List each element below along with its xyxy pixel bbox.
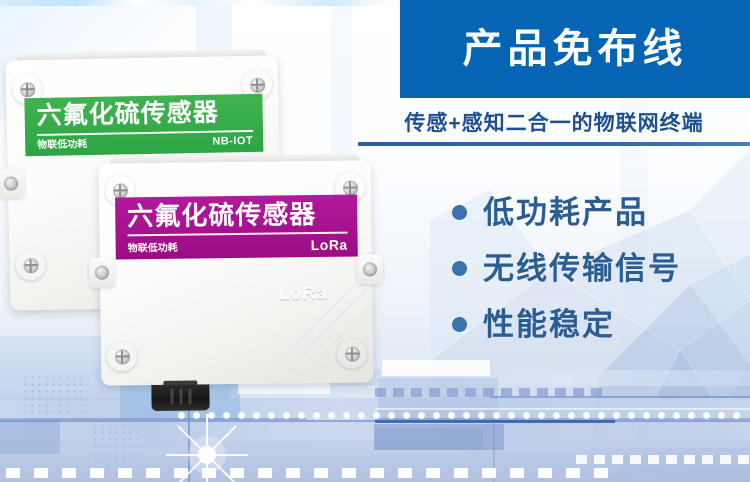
bullet-dot-icon — [452, 261, 467, 276]
feature-label: 无线传输信号 — [483, 253, 681, 284]
background-block — [0, 420, 60, 454]
page-title: 产品免布线 — [400, 0, 750, 98]
cable-gland-icon — [151, 384, 209, 411]
background-dot-row — [178, 412, 740, 419]
feature-item: 性能稳定 — [452, 296, 750, 352]
plate-subtitle-left: 物联低功耗 — [128, 244, 178, 255]
feature-item: 无线传输信号 — [452, 240, 750, 296]
enclosure-emboss-text: LoRa — [278, 283, 327, 305]
mounting-tab — [89, 257, 115, 287]
plate-title: 六氟化硫传感器 — [127, 201, 347, 230]
background-dash-row — [576, 455, 749, 464]
plate-subtitle-right: NB-IOT — [212, 136, 253, 148]
mounting-tab — [357, 254, 383, 284]
background-dash-row — [375, 388, 602, 397]
corner-screw-icon — [107, 341, 137, 371]
plate-subtitle-left: 物联低功耗 — [37, 140, 87, 151]
plate-subtitle-right: LoRa — [311, 238, 348, 252]
background-block — [382, 360, 490, 376]
feature-list: 低功耗产品 无线传输信号 性能稳定 — [452, 184, 750, 352]
background-white-dash-row — [6, 468, 608, 478]
background-rule — [375, 408, 750, 410]
bullet-dot-icon — [452, 317, 467, 332]
feature-item: 低功耗产品 — [452, 184, 750, 240]
corner-screw-icon — [337, 338, 367, 368]
background-rule — [375, 420, 615, 423]
background-dot-grid — [22, 374, 88, 424]
subtitle-underline — [358, 142, 750, 146]
product-banner: 产品免布线 传感+感知二合一的物联网终端 低功耗产品 无线传输信号 性能稳定 — [0, 0, 750, 482]
product-label-plate-nb-iot: 六氟化硫传感器 物联低功耗 NB-IOT — [24, 94, 263, 157]
feature-label: 低功耗产品 — [483, 197, 648, 228]
plate-divider — [128, 232, 348, 237]
feature-label: 性能稳定 — [483, 309, 615, 340]
product-lora-sensor: LoRa 六氟化硫传感器 物联低功耗 LoRa — [99, 160, 374, 385]
bullet-dot-icon — [452, 205, 467, 220]
product-label-plate-lora: 六氟化硫传感器 物联低功耗 LoRa — [115, 195, 358, 260]
background-starburst — [162, 410, 252, 482]
plate-title: 六氟化硫传感器 — [36, 100, 252, 129]
background-block — [375, 428, 483, 450]
page-subtitle: 传感+感知二合一的物联网终端 — [358, 105, 750, 139]
mounting-tab — [0, 168, 24, 198]
